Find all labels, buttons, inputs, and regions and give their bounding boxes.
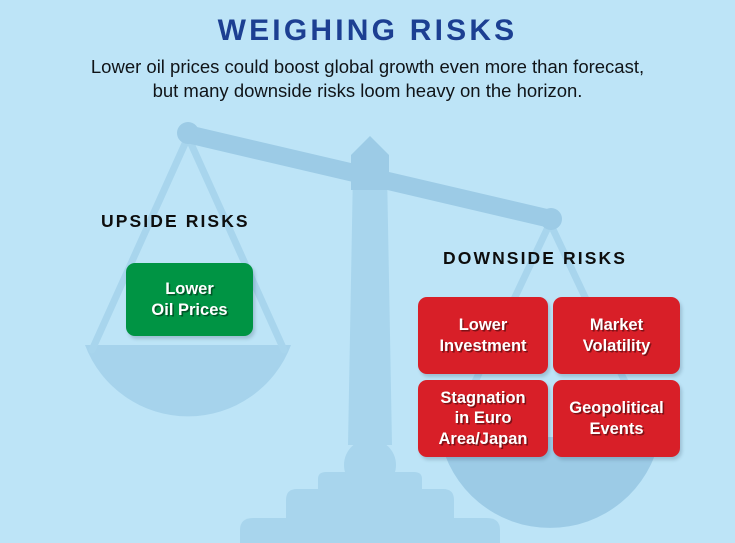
- scale-pivot-head: [351, 136, 389, 190]
- subtitle-line-1: Lower oil prices could boost global grow…: [18, 55, 718, 79]
- risk-card-line-1: Lower: [165, 280, 214, 298]
- risk-card-text: Lower Investment: [433, 315, 532, 356]
- left-pan-bowl: [85, 345, 291, 416]
- risk-card-line-1: Lower: [459, 316, 508, 334]
- scale-column: [348, 170, 392, 445]
- risk-card-line-1: Geopolitical: [569, 399, 663, 417]
- risk-card-line-1: Market: [590, 316, 643, 334]
- infographic-canvas: WEIGHING RISKS Lower oil prices could bo…: [0, 0, 735, 543]
- risk-card-text: Stagnation in Euro Area/Japan: [433, 388, 534, 449]
- risk-card-text: Geopolitical Events: [563, 398, 669, 439]
- risk-card-line-2: Volatility: [583, 337, 651, 355]
- downside-risks-header: DOWNSIDE RISKS: [443, 248, 627, 269]
- risk-card-lower-oil-prices[interactable]: Lower Oil Prices: [126, 263, 253, 336]
- scale-plinth: [286, 489, 454, 518]
- left-beam-knob: [177, 122, 199, 144]
- right-beam-knob: [540, 208, 562, 230]
- risk-card-line-3: Area/Japan: [439, 430, 528, 448]
- risk-card-line-2: in Euro: [455, 409, 512, 427]
- upside-risks-header: UPSIDE RISKS: [101, 211, 250, 232]
- page-subtitle: Lower oil prices could boost global grow…: [18, 55, 718, 104]
- risk-card-market-volatility[interactable]: Market Volatility: [553, 297, 680, 374]
- risk-card-line-2: Oil Prices: [151, 301, 227, 319]
- subtitle-line-2: but many downside risks loom heavy on th…: [18, 79, 718, 103]
- risk-card-text: Lower Oil Prices: [145, 279, 233, 320]
- header-block: WEIGHING RISKS Lower oil prices could bo…: [0, 14, 735, 103]
- scale-bulb: [344, 439, 396, 491]
- risk-card-text: Market Volatility: [577, 315, 657, 356]
- risk-card-stagnation-euro-japan[interactable]: Stagnation in Euro Area/Japan: [418, 380, 548, 457]
- risk-card-line-1: Stagnation: [440, 389, 525, 407]
- risk-card-lower-investment[interactable]: Lower Investment: [418, 297, 548, 374]
- risk-card-line-2: Events: [589, 420, 643, 438]
- page-title: WEIGHING RISKS: [0, 14, 735, 48]
- scale-foot: [240, 518, 500, 543]
- risk-card-geopolitical-events[interactable]: Geopolitical Events: [553, 380, 680, 457]
- risk-card-line-2: Investment: [439, 337, 526, 355]
